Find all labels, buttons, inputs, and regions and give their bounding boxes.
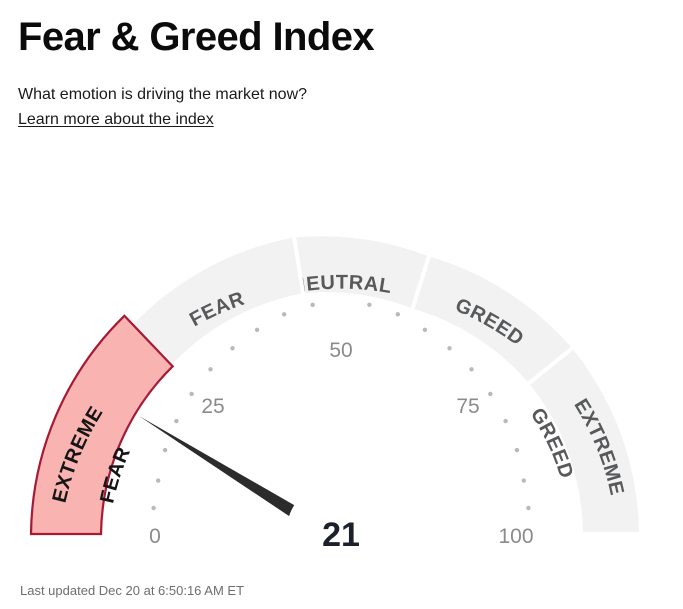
tick-dot xyxy=(522,478,526,482)
tick-dot xyxy=(503,419,507,423)
gauge-hub: 21 xyxy=(286,479,396,574)
tick-label-0: 0 xyxy=(149,525,161,548)
tick-dot xyxy=(447,346,451,350)
gauge-svg: EXTREME GREED GREED NEUTRAL xyxy=(0,198,683,574)
header: Fear & Greed Index What emotion is drivi… xyxy=(18,14,658,130)
tick-dot xyxy=(189,392,193,396)
tick-label-75: 75 xyxy=(456,395,479,418)
last-updated-text: Last updated Dec 20 at 6:50:16 AM ET xyxy=(20,583,244,599)
gauge-segment-extreme-fear[interactable]: EXTREME FEAR xyxy=(31,316,173,534)
tick-dot xyxy=(526,506,530,510)
tick-dot xyxy=(208,367,212,371)
tick-dot xyxy=(310,303,314,307)
tick-dot xyxy=(255,328,259,332)
tick-dot xyxy=(156,478,160,482)
gauge-segment-extreme-greed[interactable]: EXTREME GREED xyxy=(526,347,641,534)
tick-dot xyxy=(423,328,427,332)
gauge-segment-fear[interactable]: FEAR xyxy=(130,235,303,366)
tick-dot xyxy=(282,312,286,316)
tick-dot xyxy=(396,312,400,316)
page-subtitle: What emotion is driving the market now? xyxy=(18,60,658,105)
page-title: Fear & Greed Index xyxy=(18,14,658,60)
gauge-value: 21 xyxy=(322,516,360,554)
fear-greed-index-page: Fear & Greed Index What emotion is drivi… xyxy=(0,0,683,609)
tick-label-50: 50 xyxy=(329,339,352,362)
tick-label-25: 25 xyxy=(201,395,224,418)
tick-dot xyxy=(515,448,519,452)
tick-dot xyxy=(367,303,371,307)
learn-more-link[interactable]: Learn more about the index xyxy=(18,110,214,130)
tick-dot xyxy=(151,506,155,510)
tick-dot xyxy=(174,419,178,423)
gauge-segment-greed[interactable]: GREED xyxy=(412,254,574,384)
fear-greed-gauge: EXTREME GREED GREED NEUTRAL xyxy=(0,198,683,574)
gauge-segment-neutral[interactable]: NEUTRAL xyxy=(290,234,430,310)
tick-label-100: 100 xyxy=(498,525,533,548)
tick-dot xyxy=(163,448,167,452)
tick-dot xyxy=(230,346,234,350)
tick-dot xyxy=(469,367,473,371)
tick-dot xyxy=(488,392,492,396)
